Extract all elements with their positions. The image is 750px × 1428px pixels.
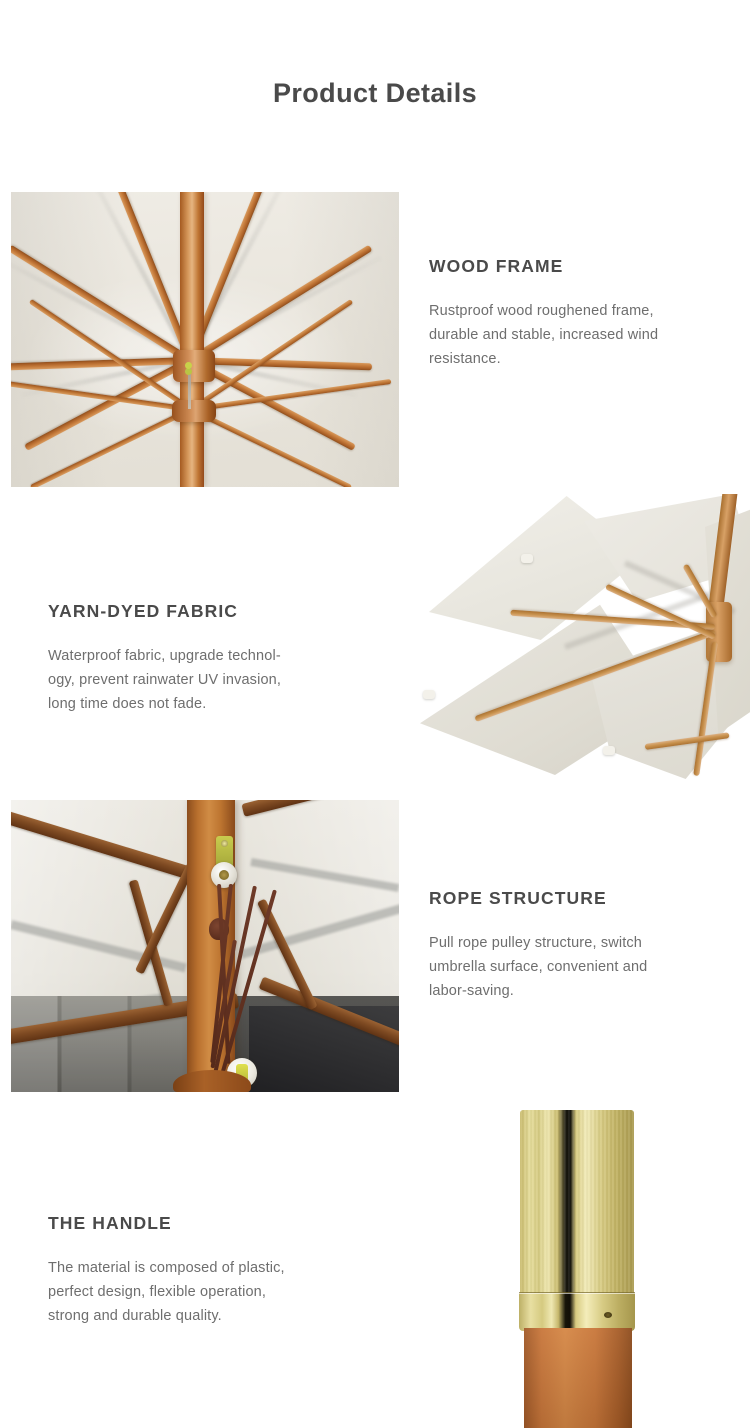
feature-body-line: Pull rope pulley structure, switch bbox=[429, 931, 719, 955]
collar-screw-icon bbox=[604, 1312, 612, 1318]
hub-clip bbox=[185, 362, 192, 369]
umbrella-pole bbox=[180, 192, 204, 487]
umbrella-wood-frame-underside-photo bbox=[11, 192, 399, 487]
feature-body-line: Waterproof fabric, upgrade technol- bbox=[48, 644, 338, 668]
umbrella-handle-photo bbox=[478, 1110, 750, 1428]
feature-text-the-handle: THE HANDLE The material is composed of p… bbox=[48, 1213, 348, 1328]
umbrella-rope-pulley-photo bbox=[11, 800, 399, 1092]
feature-body-yarn-dyed-fabric: Waterproof fabric, upgrade technol- ogy,… bbox=[48, 644, 338, 716]
feature-body-line: durable and stable, increased wind bbox=[429, 323, 719, 347]
product-details-page: Product Details WOOD FRAME bbox=[0, 0, 750, 1428]
feature-heading-yarn-dyed-fabric: YARN-DYED FABRIC bbox=[48, 601, 338, 622]
feature-heading-rope-structure: ROPE STRUCTURE bbox=[429, 888, 719, 909]
feature-heading-the-handle: THE HANDLE bbox=[48, 1213, 348, 1234]
feature-body-line: umbrella surface, convenient and bbox=[429, 955, 719, 979]
pole-shading bbox=[524, 1328, 632, 1428]
brass-handle-section bbox=[520, 1110, 634, 1300]
feature-text-rope-structure: ROPE STRUCTURE Pull rope pulley structur… bbox=[429, 888, 719, 1003]
screw-icon bbox=[221, 840, 228, 847]
feature-body-line: The material is composed of plastic, bbox=[48, 1256, 348, 1280]
umbrella-lower-hub bbox=[172, 400, 216, 422]
feature-body-line: perfect design, flexible operation, bbox=[48, 1280, 348, 1304]
feature-body-line: ogy, prevent rainwater UV invasion, bbox=[48, 668, 338, 692]
canopy-rib-tip bbox=[603, 746, 615, 755]
umbrella-canopy-corner-photo bbox=[415, 494, 750, 779]
tension-wire bbox=[188, 363, 191, 409]
umbrella-upper-hub bbox=[173, 350, 215, 382]
page-title: Product Details bbox=[0, 78, 750, 109]
canopy-rib-tip bbox=[423, 690, 435, 699]
feature-body-wood-frame: Rustproof wood roughened frame, durable … bbox=[429, 299, 719, 371]
pulley-wheel-upper bbox=[211, 862, 237, 888]
canopy-rib-tip bbox=[521, 554, 533, 563]
feature-body-rope-structure: Pull rope pulley structure, switch umbre… bbox=[429, 931, 719, 1003]
shadowed-ground bbox=[249, 1006, 399, 1092]
feature-body-line: strong and durable quality. bbox=[48, 1304, 348, 1328]
feature-text-wood-frame: WOOD FRAME Rustproof wood roughened fram… bbox=[429, 256, 719, 371]
feature-body-line: labor-saving. bbox=[429, 979, 719, 1003]
feature-body-line: Rustproof wood roughened frame, bbox=[429, 299, 719, 323]
feature-text-yarn-dyed-fabric: YARN-DYED FABRIC Waterproof fabric, upgr… bbox=[48, 601, 338, 716]
feature-body-line: long time does not fade. bbox=[48, 692, 338, 716]
feature-body-line: resistance. bbox=[429, 347, 719, 371]
feature-heading-wood-frame: WOOD FRAME bbox=[429, 256, 719, 277]
feature-body-the-handle: The material is composed of plastic, per… bbox=[48, 1256, 348, 1328]
handle-collar bbox=[519, 1293, 635, 1331]
